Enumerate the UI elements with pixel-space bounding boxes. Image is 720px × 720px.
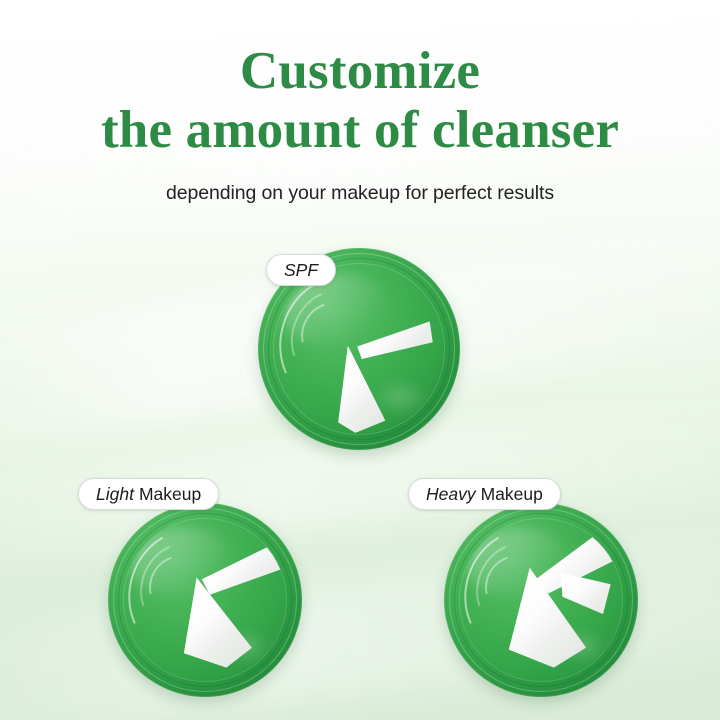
- label-light-makeup-emphasis: Light: [96, 484, 134, 505]
- page-title: Customize the amount of cleanser: [0, 44, 720, 158]
- headline-line-2: the amount of cleanser: [0, 103, 720, 158]
- jar-heavy-makeup: [444, 503, 638, 697]
- label-heavy-makeup-emphasis: Heavy: [426, 484, 476, 505]
- jar-surface: [460, 519, 621, 680]
- label-light-makeup-rest: Makeup: [139, 484, 201, 505]
- promo-poster: Customize the amount of cleanser dependi…: [0, 0, 720, 720]
- label-light-makeup: Light Makeup: [78, 478, 219, 510]
- jar-light-makeup: [108, 503, 302, 697]
- jar-surface: [275, 265, 443, 433]
- page-subtitle: depending on your makeup for perfect res…: [0, 182, 720, 205]
- headline-line-1: Customize: [0, 44, 720, 99]
- label-heavy-makeup: Heavy Makeup: [408, 478, 561, 510]
- label-spf-emphasis: SPF: [284, 260, 318, 281]
- label-spf: SPF: [266, 254, 336, 286]
- jar-surface: [124, 519, 285, 680]
- label-heavy-makeup-rest: Makeup: [481, 484, 543, 505]
